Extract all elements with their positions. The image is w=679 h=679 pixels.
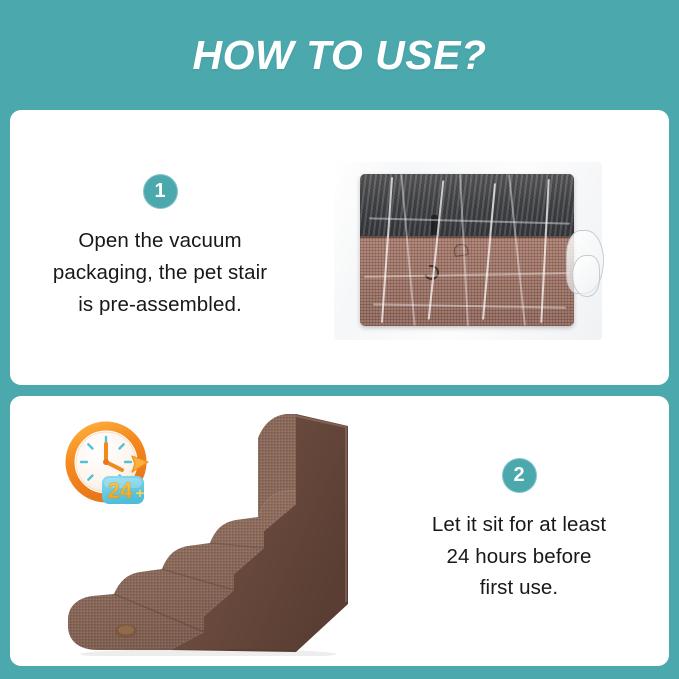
packed-product-top-layer [360, 174, 574, 236]
page-title: HOW TO USE? [0, 0, 679, 110]
vacuum-packaging-image [334, 162, 602, 340]
step-2-media: 24 + [10, 396, 369, 666]
step-card-2: 24 + 2 Let it sit for at least 24 hours … [10, 396, 669, 666]
packaging-tab [431, 215, 438, 235]
packed-product [360, 174, 574, 326]
step-1-media [310, 110, 669, 385]
step-card-1: 1 Open the vacuum packaging, the pet sta… [10, 110, 669, 385]
clock-badge-label: 24 [108, 478, 133, 503]
clock-24-hours-illustration: 24 + [62, 418, 158, 514]
step-1-number-badge: 1 [143, 174, 178, 209]
step-1-text-block: 1 Open the vacuum packaging, the pet sta… [10, 174, 310, 320]
film-excess-fold [572, 255, 600, 297]
clock-24-hours-icon: 24 + [62, 418, 158, 514]
packed-product-seam [360, 236, 574, 238]
clock-badge-plus: + [136, 485, 145, 502]
heart-mark-icon [453, 243, 469, 257]
step-2-caption: Let it sit for at least 24 hours before … [418, 509, 620, 604]
step-2-text-block: 2 Let it sit for at least 24 hours befor… [369, 458, 669, 604]
step-2-number-badge: 2 [502, 458, 537, 493]
step-1-caption: Open the vacuum packaging, the pet stair… [39, 225, 281, 320]
